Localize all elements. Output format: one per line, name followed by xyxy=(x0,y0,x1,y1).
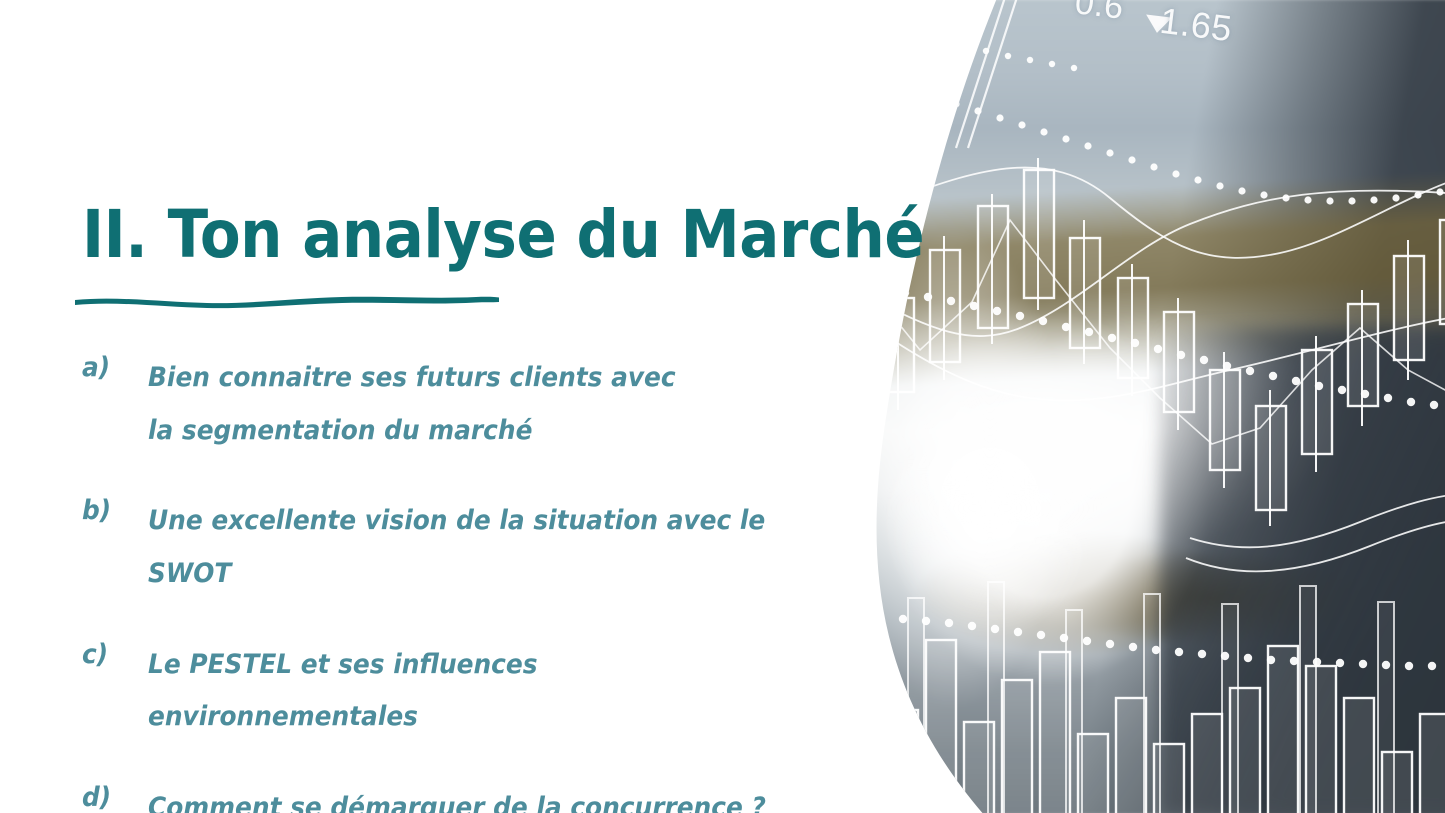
page-title: II. Ton analyse du Marché xyxy=(82,200,924,269)
list-item-label: Comment se démarquer de la concurrence ? xyxy=(148,782,792,813)
bullet-list: a) Bien connaitre ses futurs clients ave… xyxy=(82,352,882,813)
list-item-marker: a) xyxy=(82,352,143,385)
media-inner: 0.6 1.65 xyxy=(860,0,1445,813)
list-item-label: Une excellente vision de la situation av… xyxy=(148,495,792,600)
title-underline xyxy=(72,286,502,312)
list-item-label: Bien connaitre ses futurs clients avec l… xyxy=(148,352,700,457)
list-item-marker: d) xyxy=(82,782,143,813)
list-item: d) Comment se démarquer de la concurrenc… xyxy=(82,782,882,813)
list-item: b) Une excellente vision de la situation… xyxy=(82,495,882,600)
chart-overlay xyxy=(860,0,1445,813)
list-item-marker: c) xyxy=(82,639,143,672)
list-item-label: Le PESTEL et ses influences environnemen… xyxy=(148,639,792,744)
list-item: a) Bien connaitre ses futurs clients ave… xyxy=(82,352,882,457)
list-item: c) Le PESTEL et ses influences environne… xyxy=(82,639,882,744)
media-panel: 0.6 1.65 xyxy=(860,0,1445,813)
list-item-marker: b) xyxy=(82,495,143,528)
presentation-slide: 0.6 1.65 II. Ton analyse du Marché a) Bi… xyxy=(0,0,1445,813)
chart-tick-label-right: 1.65 xyxy=(1158,0,1235,50)
